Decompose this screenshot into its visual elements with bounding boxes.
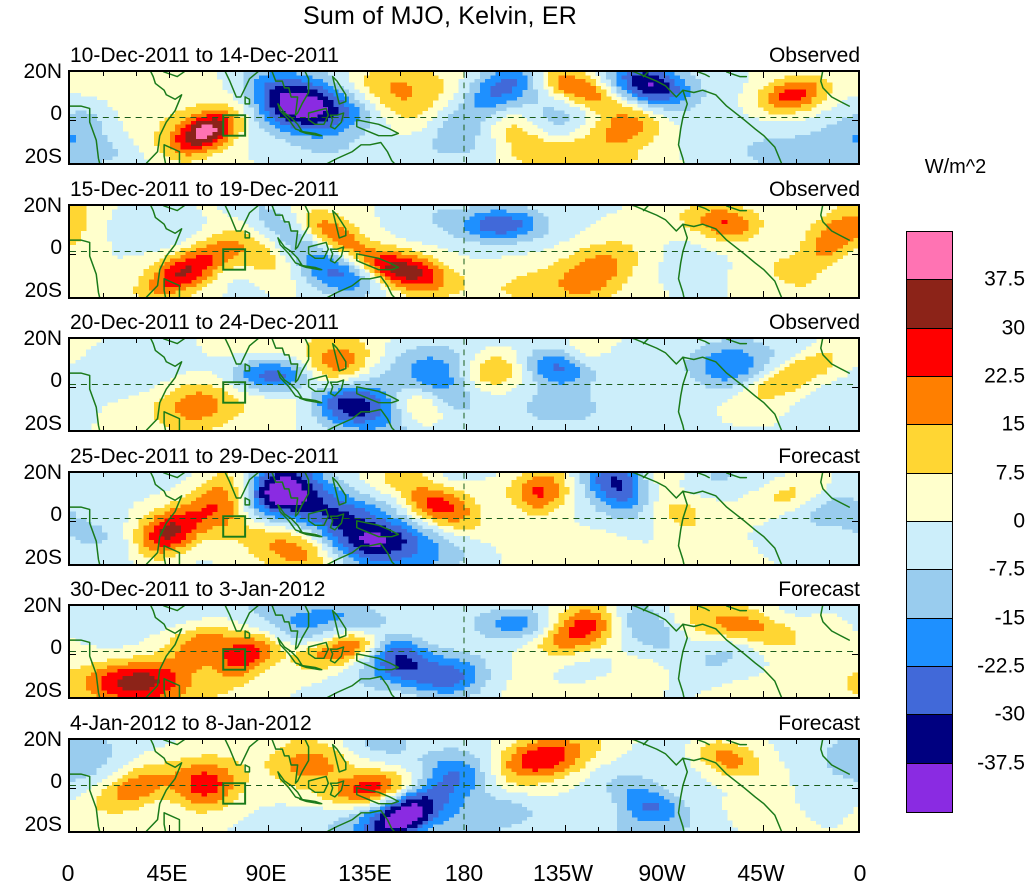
axis-minor-tick — [301, 560, 302, 564]
axis-tick — [169, 473, 170, 479]
axis-minor-tick — [136, 827, 137, 831]
axis-minor-tick — [598, 339, 599, 343]
axis-minor-tick — [532, 293, 533, 297]
axis-minor-tick — [235, 206, 236, 210]
axis-minor-tick — [400, 740, 401, 744]
axis-tick — [466, 291, 467, 297]
axis-minor-tick — [400, 72, 401, 76]
axis-minor-tick — [730, 693, 731, 697]
axis-tick — [367, 157, 368, 163]
axis-minor-tick — [730, 606, 731, 610]
axis-tick — [565, 825, 566, 831]
axis-tick — [565, 291, 566, 297]
axis-tick — [763, 291, 764, 297]
axis-minor-tick — [301, 740, 302, 744]
panel-date-range: 20-Dec-2011 to 24-Dec-2011 — [70, 311, 339, 335]
axis-tick — [664, 473, 665, 479]
axis-minor-tick — [499, 473, 500, 477]
colorbar-tick-labels: 37.53022.5157.50-7.5-15-22.5-30-37.5 — [952, 231, 1031, 811]
axis-tick — [169, 339, 170, 345]
map-panel — [68, 471, 860, 566]
colorbar-tick-label: -37.5 — [977, 752, 1025, 773]
colorbar-tick-label: -30 — [995, 704, 1025, 725]
colorbar-band — [907, 619, 952, 667]
axis-minor-tick — [631, 606, 632, 610]
axis-minor-tick — [532, 693, 533, 697]
axis-tick — [70, 788, 76, 789]
y-axis-tick-labels: 20N020S — [0, 604, 62, 699]
anomaly-field — [70, 740, 858, 831]
colorbar-band — [907, 280, 952, 328]
axis-minor-tick — [433, 159, 434, 163]
axis-tick — [763, 825, 764, 831]
axis-minor-tick — [400, 293, 401, 297]
axis-tick — [852, 254, 858, 255]
axis-minor-tick — [532, 159, 533, 163]
axis-minor-tick — [235, 72, 236, 76]
axis-minor-tick — [730, 72, 731, 76]
axis-minor-tick — [334, 206, 335, 210]
axis-minor-tick — [202, 206, 203, 210]
axis-minor-tick — [202, 693, 203, 697]
axis-minor-tick — [136, 72, 137, 76]
axis-minor-tick — [433, 740, 434, 744]
colorbar-band — [907, 522, 952, 570]
map-panel — [68, 604, 860, 699]
axis-tick — [169, 606, 170, 612]
axis-minor-tick — [334, 426, 335, 430]
axis-minor-tick — [301, 693, 302, 697]
axis-minor-tick — [499, 206, 500, 210]
anomaly-field — [70, 473, 858, 564]
axis-tick — [565, 473, 566, 479]
axis-minor-tick — [631, 473, 632, 477]
axis-minor-tick — [598, 72, 599, 76]
axis-tick — [664, 691, 665, 697]
axis-tick — [367, 558, 368, 564]
axis-tick — [763, 740, 764, 746]
axis-tick — [466, 339, 467, 345]
axis-tick — [664, 606, 665, 612]
axis-tick — [367, 72, 368, 78]
axis-minor-tick — [235, 426, 236, 430]
axis-minor-tick — [136, 426, 137, 430]
axis-tick — [565, 157, 566, 163]
y-tick-label: 20N — [23, 729, 62, 750]
axis-minor-tick — [433, 606, 434, 610]
axis-minor-tick — [829, 159, 830, 163]
axis-minor-tick — [598, 560, 599, 564]
axis-minor-tick — [796, 72, 797, 76]
axis-tick — [664, 558, 665, 564]
anomaly-field — [70, 72, 858, 163]
axis-minor-tick — [136, 206, 137, 210]
axis-tick — [268, 72, 269, 78]
axis-minor-tick — [631, 206, 632, 210]
axis-minor-tick — [202, 740, 203, 744]
panel-status-label: Observed — [769, 311, 860, 335]
y-axis-tick-labels: 20N020S — [0, 738, 62, 833]
axis-tick — [169, 825, 170, 831]
y-tick-label: 0 — [50, 504, 62, 525]
axis-minor-tick — [334, 72, 335, 76]
axis-minor-tick — [433, 560, 434, 564]
axis-tick — [565, 691, 566, 697]
axis-minor-tick — [697, 560, 698, 564]
panel-status-label: Forecast — [778, 445, 860, 469]
axis-minor-tick — [334, 827, 335, 831]
axis-minor-tick — [730, 560, 731, 564]
axis-minor-tick — [697, 473, 698, 477]
panel-row: 15-Dec-2011 to 19-Dec-2011Observed20N020… — [0, 178, 880, 311]
axis-minor-tick — [796, 560, 797, 564]
axis-minor-tick — [598, 473, 599, 477]
axis-minor-tick — [499, 159, 500, 163]
axis-minor-tick — [400, 206, 401, 210]
axis-minor-tick — [334, 473, 335, 477]
axis-minor-tick — [235, 560, 236, 564]
axis-minor-tick — [697, 339, 698, 343]
axis-tick — [852, 788, 858, 789]
panel-status-label: Forecast — [778, 712, 860, 736]
axis-minor-tick — [235, 293, 236, 297]
y-tick-label: 0 — [50, 103, 62, 124]
map-panel — [68, 204, 860, 299]
y-tick-label: 20S — [25, 814, 62, 835]
panel-date-range: 25-Dec-2011 to 29-Dec-2011 — [70, 445, 339, 469]
axis-tick — [852, 387, 858, 388]
axis-minor-tick — [235, 693, 236, 697]
axis-minor-tick — [697, 426, 698, 430]
figure-title: Sum of MJO, Kelvin, ER — [0, 2, 880, 31]
axis-minor-tick — [829, 426, 830, 430]
axis-minor-tick — [301, 159, 302, 163]
axis-minor-tick — [697, 72, 698, 76]
x-tick-label: 180 — [445, 860, 483, 887]
axis-tick — [367, 473, 368, 479]
panel-date-range: 10-Dec-2011 to 14-Dec-2011 — [70, 44, 339, 68]
axis-minor-tick — [400, 560, 401, 564]
axis-tick — [763, 424, 764, 430]
axis-minor-tick — [697, 606, 698, 610]
axis-minor-tick — [697, 206, 698, 210]
axis-minor-tick — [400, 339, 401, 343]
axis-minor-tick — [796, 206, 797, 210]
axis-tick — [367, 206, 368, 212]
axis-minor-tick — [202, 339, 203, 343]
y-tick-label: 0 — [50, 771, 62, 792]
axis-tick — [367, 740, 368, 746]
axis-minor-tick — [202, 560, 203, 564]
axis-minor-tick — [631, 740, 632, 744]
axis-minor-tick — [829, 473, 830, 477]
colorbar-band — [907, 474, 952, 522]
axis-minor-tick — [103, 473, 104, 477]
axis-minor-tick — [697, 693, 698, 697]
colorbar — [906, 231, 953, 813]
axis-tick — [763, 157, 764, 163]
axis-minor-tick — [532, 473, 533, 477]
axis-minor-tick — [235, 827, 236, 831]
axis-minor-tick — [796, 827, 797, 831]
axis-minor-tick — [598, 426, 599, 430]
x-tick-label: 135W — [533, 860, 593, 887]
map-panel — [68, 70, 860, 165]
axis-minor-tick — [631, 827, 632, 831]
axis-tick — [664, 157, 665, 163]
colorbar-tick-label: 37.5 — [984, 269, 1025, 290]
panel-status-label: Observed — [769, 178, 860, 202]
axis-minor-tick — [499, 72, 500, 76]
axis-minor-tick — [532, 606, 533, 610]
panel-row: 30-Dec-2011 to 3-Jan-2012Forecast20N020S — [0, 578, 880, 711]
axis-tick — [852, 654, 858, 655]
axis-minor-tick — [730, 740, 731, 744]
axis-minor-tick — [499, 606, 500, 610]
axis-minor-tick — [400, 426, 401, 430]
axis-tick — [268, 339, 269, 345]
axis-minor-tick — [301, 473, 302, 477]
axis-minor-tick — [532, 560, 533, 564]
axis-tick — [565, 606, 566, 612]
axis-tick — [268, 157, 269, 163]
axis-minor-tick — [433, 293, 434, 297]
axis-minor-tick — [697, 740, 698, 744]
axis-minor-tick — [136, 560, 137, 564]
axis-tick — [466, 740, 467, 746]
colorbar-tick-label: -7.5 — [989, 559, 1025, 580]
colorbar-band — [907, 570, 952, 618]
axis-minor-tick — [202, 606, 203, 610]
axis-tick — [664, 72, 665, 78]
axis-minor-tick — [235, 159, 236, 163]
axis-tick — [466, 424, 467, 430]
panel-status-label: Forecast — [778, 578, 860, 602]
axis-tick — [268, 424, 269, 430]
axis-minor-tick — [334, 293, 335, 297]
axis-tick — [466, 72, 467, 78]
axis-minor-tick — [829, 740, 830, 744]
axis-minor-tick — [136, 293, 137, 297]
axis-tick — [763, 606, 764, 612]
y-axis-tick-labels: 20N020S — [0, 204, 62, 299]
panel-row: 25-Dec-2011 to 29-Dec-2011Forecast20N020… — [0, 445, 880, 578]
axis-minor-tick — [796, 159, 797, 163]
axis-minor-tick — [730, 339, 731, 343]
anomaly-field — [70, 206, 858, 297]
axis-tick — [763, 691, 764, 697]
axis-minor-tick — [433, 426, 434, 430]
axis-tick — [565, 424, 566, 430]
axis-minor-tick — [796, 339, 797, 343]
axis-minor-tick — [103, 606, 104, 610]
anomaly-field — [70, 339, 858, 430]
x-axis-tick-labels: 045E90E135E180135W90W45W0 — [68, 860, 860, 888]
axis-tick — [70, 521, 76, 522]
axis-tick — [367, 606, 368, 612]
axis-minor-tick — [235, 740, 236, 744]
axis-minor-tick — [334, 740, 335, 744]
axis-minor-tick — [796, 606, 797, 610]
axis-minor-tick — [400, 159, 401, 163]
colorbar-band — [907, 715, 952, 763]
axis-tick — [466, 558, 467, 564]
axis-minor-tick — [433, 339, 434, 343]
axis-tick — [852, 120, 858, 121]
axis-minor-tick — [532, 72, 533, 76]
axis-tick — [763, 206, 764, 212]
axis-minor-tick — [532, 426, 533, 430]
axis-minor-tick — [334, 606, 335, 610]
axis-minor-tick — [499, 827, 500, 831]
y-tick-label: 20N — [23, 195, 62, 216]
axis-minor-tick — [235, 339, 236, 343]
panel-row: 4-Jan-2012 to 8-Jan-2012Forecast20N020S — [0, 712, 880, 845]
axis-minor-tick — [730, 206, 731, 210]
axis-tick — [169, 157, 170, 163]
axis-minor-tick — [136, 693, 137, 697]
panel-date-range: 4-Jan-2012 to 8-Jan-2012 — [70, 712, 312, 736]
panel-heading: 30-Dec-2011 to 3-Jan-2012Forecast — [68, 578, 860, 604]
axis-tick — [367, 424, 368, 430]
map-panel — [68, 337, 860, 432]
axis-tick — [169, 291, 170, 297]
axis-tick — [367, 825, 368, 831]
y-tick-label: 20S — [25, 146, 62, 167]
axis-minor-tick — [631, 426, 632, 430]
axis-tick — [763, 339, 764, 345]
axis-minor-tick — [136, 606, 137, 610]
axis-minor-tick — [202, 72, 203, 76]
axis-minor-tick — [136, 473, 137, 477]
axis-tick — [763, 473, 764, 479]
axis-tick — [70, 120, 76, 121]
axis-tick — [466, 825, 467, 831]
axis-minor-tick — [202, 293, 203, 297]
colorbar-band — [907, 329, 952, 377]
axis-minor-tick — [301, 606, 302, 610]
panel-row: 10-Dec-2011 to 14-Dec-2011Observed20N020… — [0, 44, 880, 177]
axis-minor-tick — [730, 827, 731, 831]
axis-tick — [268, 291, 269, 297]
axis-minor-tick — [532, 206, 533, 210]
axis-tick — [70, 387, 76, 388]
axis-tick — [466, 691, 467, 697]
axis-minor-tick — [598, 740, 599, 744]
y-tick-label: 20N — [23, 595, 62, 616]
panel-heading: 20-Dec-2011 to 24-Dec-2011Observed — [68, 311, 860, 337]
y-tick-label: 20S — [25, 547, 62, 568]
axis-minor-tick — [730, 159, 731, 163]
axis-minor-tick — [400, 606, 401, 610]
axis-tick — [664, 339, 665, 345]
axis-tick — [565, 72, 566, 78]
axis-minor-tick — [433, 72, 434, 76]
axis-minor-tick — [631, 293, 632, 297]
axis-tick — [169, 558, 170, 564]
axis-minor-tick — [334, 339, 335, 343]
colorbar-tick-label: 7.5 — [996, 462, 1025, 483]
axis-minor-tick — [334, 560, 335, 564]
axis-minor-tick — [103, 159, 104, 163]
axis-tick — [466, 606, 467, 612]
axis-minor-tick — [598, 693, 599, 697]
y-tick-label: 0 — [50, 370, 62, 391]
axis-minor-tick — [631, 693, 632, 697]
axis-minor-tick — [202, 473, 203, 477]
axis-minor-tick — [334, 693, 335, 697]
y-tick-label: 20N — [23, 61, 62, 82]
axis-tick — [169, 740, 170, 746]
axis-minor-tick — [598, 606, 599, 610]
axis-minor-tick — [697, 293, 698, 297]
axis-tick — [169, 72, 170, 78]
axis-tick — [852, 521, 858, 522]
axis-minor-tick — [631, 560, 632, 564]
axis-minor-tick — [400, 693, 401, 697]
x-tick-label: 45W — [737, 860, 784, 887]
axis-tick — [268, 691, 269, 697]
axis-tick — [466, 206, 467, 212]
axis-minor-tick — [829, 827, 830, 831]
axis-minor-tick — [631, 72, 632, 76]
colorbar-tick-label: 0 — [1013, 511, 1025, 532]
axis-minor-tick — [598, 206, 599, 210]
axis-minor-tick — [103, 293, 104, 297]
axis-minor-tick — [400, 473, 401, 477]
y-tick-label: 0 — [50, 637, 62, 658]
axis-minor-tick — [631, 159, 632, 163]
y-tick-label: 0 — [50, 237, 62, 258]
axis-minor-tick — [202, 159, 203, 163]
axis-tick — [268, 740, 269, 746]
colorbar-band — [907, 764, 952, 812]
axis-minor-tick — [499, 426, 500, 430]
axis-minor-tick — [235, 606, 236, 610]
axis-tick — [466, 157, 467, 163]
axis-tick — [664, 825, 665, 831]
axis-minor-tick — [301, 339, 302, 343]
axis-minor-tick — [103, 206, 104, 210]
axis-minor-tick — [103, 740, 104, 744]
axis-minor-tick — [499, 339, 500, 343]
panel-date-range: 30-Dec-2011 to 3-Jan-2012 — [70, 578, 325, 602]
axis-minor-tick — [202, 426, 203, 430]
axis-minor-tick — [433, 473, 434, 477]
axis-minor-tick — [499, 693, 500, 697]
colorbar-tick-label: 30 — [1002, 317, 1025, 338]
axis-minor-tick — [301, 293, 302, 297]
axis-minor-tick — [796, 740, 797, 744]
colorbar-band — [907, 425, 952, 473]
y-tick-label: 20S — [25, 280, 62, 301]
axis-minor-tick — [829, 72, 830, 76]
axis-minor-tick — [136, 339, 137, 343]
x-tick-label: 135E — [338, 860, 392, 887]
axis-minor-tick — [103, 827, 104, 831]
colorbar-tick-label: 22.5 — [984, 366, 1025, 387]
axis-tick — [169, 691, 170, 697]
x-tick-label: 90E — [246, 860, 287, 887]
axis-minor-tick — [136, 740, 137, 744]
axis-minor-tick — [103, 560, 104, 564]
axis-tick — [70, 254, 76, 255]
panel-heading: 10-Dec-2011 to 14-Dec-2011Observed — [68, 44, 860, 70]
panel-row: 20-Dec-2011 to 24-Dec-2011Observed20N020… — [0, 311, 880, 444]
axis-minor-tick — [433, 827, 434, 831]
axis-minor-tick — [631, 339, 632, 343]
axis-minor-tick — [730, 426, 731, 430]
